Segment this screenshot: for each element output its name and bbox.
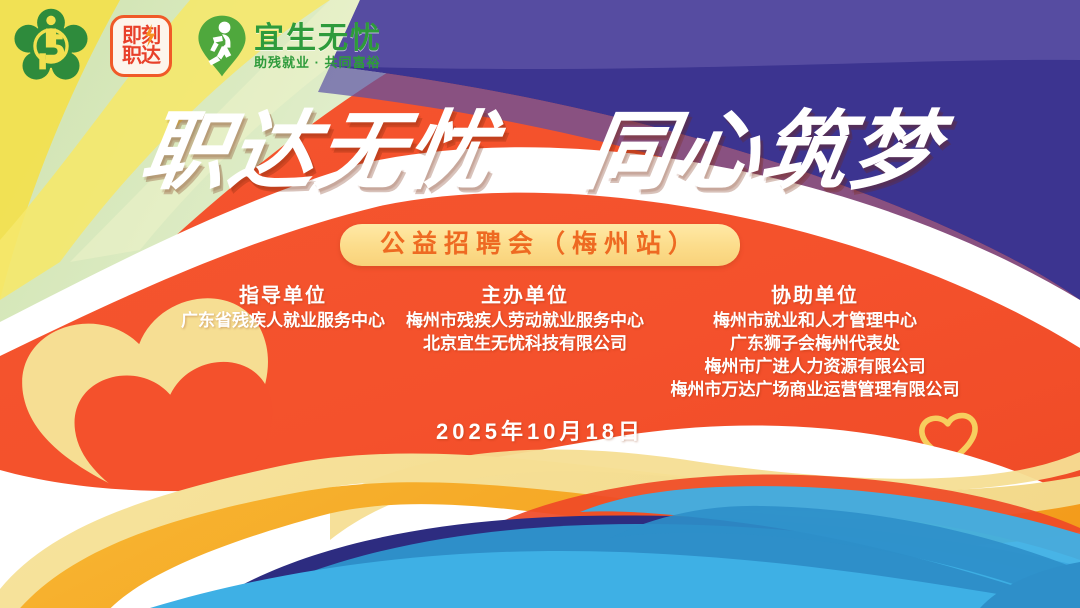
- cdpf-emblem-icon: [14, 8, 88, 84]
- org-line: 梅州市残疾人劳动就业服务中心: [375, 309, 675, 332]
- jike-zhida-line1-text: 即刻: [122, 25, 160, 47]
- subtitle-text: 公益招聘会（梅州站）: [380, 230, 700, 258]
- org-heading-assist: 协助单位: [640, 284, 990, 309]
- main-title: 职达无忧 同心筑梦: [134, 104, 945, 200]
- subtitle-ribbon-wrap: 公益招聘会（梅州站）: [0, 224, 1080, 266]
- jike-zhida-line1: 即刻: [122, 26, 160, 46]
- org-line: 广东狮子会梅州代表处: [640, 332, 990, 355]
- logo-row: 即刻 职达: [0, 0, 420, 92]
- main-title-right: 同心筑梦: [578, 104, 945, 200]
- subtitle-ribbon: 公益招聘会（梅州站）: [340, 224, 740, 266]
- org-heading-host: 主办单位: [375, 284, 675, 309]
- poster-canvas: 即刻 职达: [0, 0, 1080, 608]
- org-column-assist: 协助单位 梅州市就业和人才管理中心 广东狮子会梅州代表处 梅州市广进人力资源有限…: [640, 284, 990, 401]
- event-date: 2025年10月18日: [436, 418, 644, 446]
- org-line: 梅州市广进人力资源有限公司: [640, 355, 990, 378]
- main-title-left: 职达无忧: [134, 104, 501, 200]
- org-line: 梅州市就业和人才管理中心: [640, 309, 990, 332]
- org-line: 北京宜生无忧科技有限公司: [375, 332, 675, 355]
- org-column-host: 主办单位 梅州市残疾人劳动就业服务中心 北京宜生无忧科技有限公司: [375, 284, 675, 355]
- yisheng-wuyou-tagline: 助残就业 · 共同富裕: [254, 56, 382, 70]
- event-date-wrap: 2025年10月18日: [0, 418, 1080, 446]
- main-title-wrap: 职达无忧 同心筑梦: [0, 104, 1080, 200]
- jike-zhida-logo: 即刻 职达: [110, 15, 172, 77]
- jike-zhida-line2: 职达: [122, 46, 160, 66]
- org-line: 梅州市万达广场商业运营管理有限公司: [640, 378, 990, 401]
- location-pin-runner-icon: [196, 14, 248, 78]
- yisheng-wuyou-logo: 宜生无忧 助残就业 · 共同富裕: [196, 14, 382, 78]
- china-disabled-persons-federation-logo: [14, 8, 88, 84]
- yisheng-wuyou-name: 宜生无忧: [254, 23, 382, 54]
- yisheng-wuyou-text: 宜生无忧 助残就业 · 共同富裕: [254, 23, 382, 70]
